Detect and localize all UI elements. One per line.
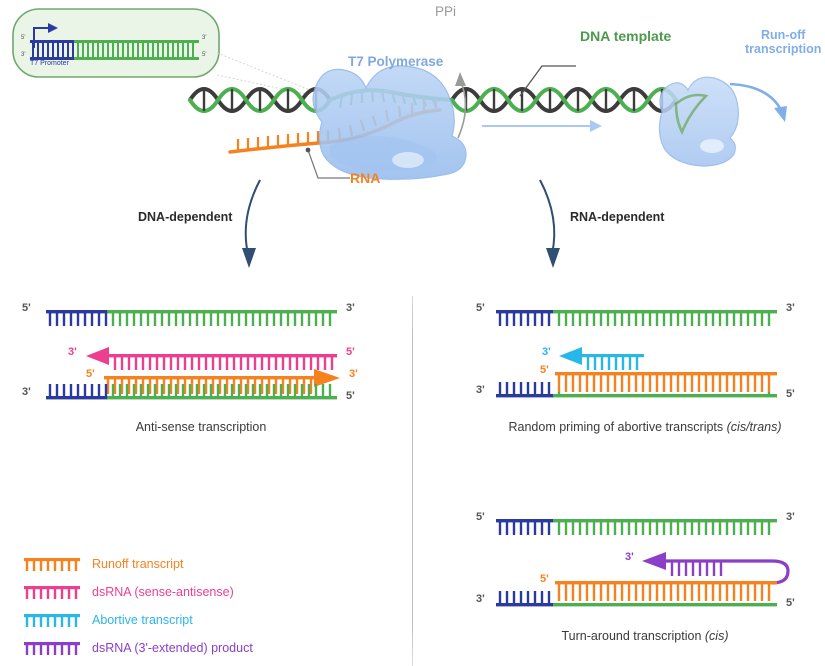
p2-top-left-tick: 5' [476,302,485,314]
extended-product-transcript [642,552,788,583]
p3-bottom-right-tick: 5' [786,597,795,609]
p1-antisense-left-tick: 3' [68,346,77,358]
sense-transcript [104,369,340,394]
panel-anti-sense: 5' 3' 3' 5' 5' 3' 3' 5' Anti-sense trans… [16,296,386,436]
transcription-scene [190,60,825,185]
ppi-label: PPi [435,4,456,19]
p2-caption-italic: (cis/trans) [727,420,782,434]
polymerase-label: T7 Polymerase [348,54,443,69]
p1-top-right-tick: 3' [346,302,355,314]
inset-tick-5p-right: 5' [202,52,206,58]
legend-swatch-abortive [24,612,82,628]
abortive-transcript [559,347,644,370]
branch-label-rna-dependent: RNA-dependent [570,210,664,224]
p1-caption: Anti-sense transcription [16,420,386,434]
t7-polymerase-runoff-shape [659,77,738,166]
p3-top-left-tick: 5' [476,511,485,523]
p3-top-right-tick: 3' [786,511,795,523]
runoff-transcript [555,581,777,601]
legend-label-abortive: Abortive transcript [92,613,193,627]
antisense-transcript [86,347,337,370]
p1-caption-text: Anti-sense transcription [136,420,267,434]
legend-item-runoff: Runoff transcript [24,556,183,572]
dna-template-label: DNA template [580,28,671,44]
top-strand [496,519,777,535]
p1-sense-right-tick: 3' [349,368,358,380]
legend-swatch-extended [24,640,82,656]
top-strand [46,310,337,326]
legend-item-abortive: Abortive transcript [24,612,193,628]
p2-abortive-tick: 3' [542,346,551,358]
inset-tick-3p-right: 3' [202,35,206,41]
promoter-inset: 5' 3' 3' 5' T7 Promoter [12,8,220,78]
legend-item-extended-product: dsRNA (3'-extended) product [24,640,253,656]
p2-top-right-tick: 3' [786,302,795,314]
inset-tick-5p-left: 5' [21,35,25,41]
p3-extended-tick: 3' [625,551,634,563]
legend-label-extended: dsRNA (3'-extended) product [92,641,253,655]
panel-turn-around: 5' 3' 3' 5' 3' 5' Turn-around transcript… [470,505,820,650]
panel-divider [412,296,413,666]
p3-caption: Turn-around transcription (cis) [470,629,820,643]
p1-top-left-tick: 5' [22,302,31,314]
runoff-transcript [555,372,777,392]
legend-item-dsrna-sense-antisense: dsRNA (sense-antisense) [24,584,234,600]
runoff-transcription-label: Run-off transcription [745,28,821,56]
p1-bottom-left-tick: 3' [22,386,31,398]
runoff-label-line1: Run-off [761,28,805,42]
dna-helix-downstream [452,89,676,111]
legend-swatch-runoff [24,556,82,572]
panel-random-priming: 5' 3' 3' 5' 3' 5' Random priming of abor… [470,296,820,436]
p2-caption: Random priming of abortive transcripts (… [470,420,820,434]
p3-bottom-left-tick: 3' [476,593,485,605]
branch-arrows [120,180,700,275]
legend-label-dsrna: dsRNA (sense-antisense) [92,585,234,599]
p1-bottom-right-tick: 5' [346,390,355,402]
branch-label-dna-dependent: DNA-dependent [138,210,232,224]
p3-caption-text: Turn-around transcription [562,629,705,643]
t7-promoter-label: T7 Promoter [30,60,69,67]
dna-helix-upstream [190,89,330,111]
p2-runoff-tick: 5' [540,364,549,376]
p3-runoff-tick: 5' [540,573,549,585]
inset-tick-3p-left: 3' [21,52,25,58]
legend-swatch-dsrna [24,584,82,600]
runoff-label-line2: transcription [745,42,821,56]
p2-caption-text: Random priming of abortive transcripts [508,420,726,434]
p2-bottom-left-tick: 3' [476,384,485,396]
p3-caption-italic: (cis) [705,629,729,643]
p1-sense-left-tick: 5' [86,368,95,380]
legend-label-runoff: Runoff transcript [92,557,183,571]
direction-arrow [482,120,602,132]
t7-polymerase-shape [313,66,466,179]
top-strand [496,310,777,326]
p2-bottom-right-tick: 5' [786,388,795,400]
p1-antisense-right-tick: 5' [346,346,355,358]
